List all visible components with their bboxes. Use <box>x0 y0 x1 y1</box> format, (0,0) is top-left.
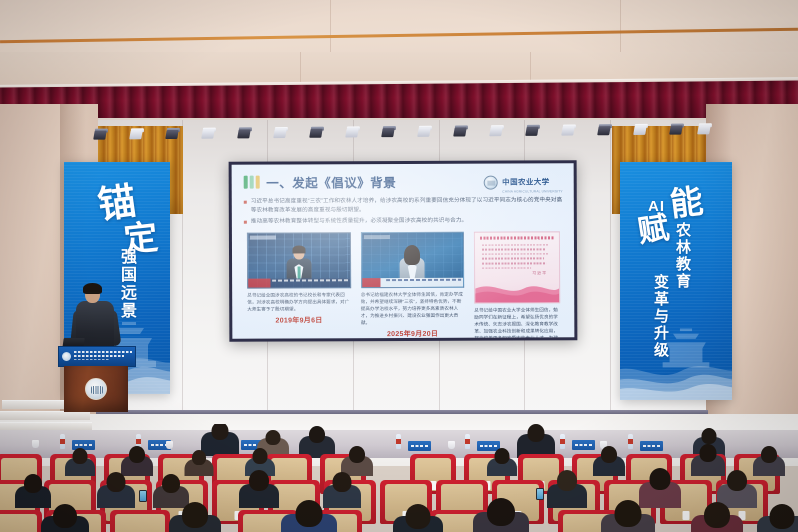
card-caption: 总书记给全国涉农高校的书记校长和专家代表回信，对涉农高校明确办学方向提出具体要求… <box>247 291 351 313</box>
university-seal-icon <box>85 378 107 400</box>
card-caption: 总书记给中国农业大学全体师生回信，勉励同学们在新征程上，希望弘扬优良的学术传统、… <box>474 306 560 339</box>
audience-person <box>592 446 626 476</box>
auditorium-scene: 锚 定 强国远景 AI 能 赋 农林教育 变革与升级 <box>0 0 798 532</box>
spotlight-icon <box>382 126 397 139</box>
audience-person <box>472 498 530 532</box>
audience-person <box>280 500 338 532</box>
spotlight-icon <box>310 127 325 140</box>
water-bottle <box>628 434 633 449</box>
title-accent-bars-icon <box>244 176 260 189</box>
banner-right-vertical-text-2: 变革与升级 <box>650 274 671 359</box>
podium-area <box>58 278 136 412</box>
audience-person <box>40 504 90 532</box>
document-signature: 习近平 <box>532 270 547 276</box>
news-anchor-figure-icon <box>399 246 425 280</box>
university-logo: 中国农业大学 CHINA AGRICULTURAL UNIVERSITY <box>484 171 563 193</box>
audience-person <box>486 448 518 476</box>
spotlight-icon <box>526 125 541 138</box>
audience-person <box>690 502 744 532</box>
spotlight-icon <box>454 125 469 138</box>
document-header-line <box>480 236 554 239</box>
spotlight-icon <box>634 124 649 137</box>
letter-document-thumbnail: 习近平 <box>474 231 560 303</box>
spotlight-icon <box>346 126 361 139</box>
news-ticker-bar <box>248 278 350 287</box>
water-bottle <box>465 434 470 449</box>
document-wave-graphic <box>475 280 559 302</box>
spotlight-icon <box>130 128 145 141</box>
paper-cup <box>166 441 173 449</box>
slide-card-row: 总书记给全国涉农高校的书记校长和专家代表回信，对涉农高校明确办学方向提出具体要求… <box>244 231 564 339</box>
water-bottle <box>60 434 65 449</box>
paper-cup <box>32 440 39 448</box>
slide-card: 总书记给福建农林大学全体师生回信，肯定办学成效，并希望继续深耕“三农”，坚持特色… <box>360 231 464 338</box>
card-caption: 总书记给福建农林大学全体师生回信，肯定办学成效，并希望继续深耕“三农”，坚持特色… <box>361 290 465 326</box>
audience-person <box>756 504 798 532</box>
news-ticker-bar <box>362 277 464 286</box>
audience-person <box>238 470 280 508</box>
spotlight-icon <box>598 124 613 137</box>
news-broadcast-thumbnail <box>247 232 351 288</box>
slide-card: 习近平 总书记给中国农业大学全体师生回信，勉励同学们在新征程上，希望弘扬优良的学… <box>474 231 561 339</box>
slide-card: 总书记给全国涉农高校的书记校长和专家代表回信，对涉农高校明确办学方向提出具体要求… <box>247 232 351 339</box>
audience-person <box>546 470 588 508</box>
spotlight-icon <box>418 126 433 139</box>
spotlight-icon <box>274 127 289 140</box>
document-body-lines <box>482 244 552 272</box>
spotlight-icon <box>698 123 713 136</box>
slide-bullet-list: 习近平总书记高度重视“三农”工作和农林人才培养，给涉农高校的系列重要回信充分体现… <box>244 196 563 227</box>
university-name: 中国农业大学 <box>502 177 549 186</box>
card-date: 2019年9月6日 <box>247 315 351 325</box>
audience-person <box>14 474 52 508</box>
smartphone <box>536 488 544 500</box>
spotlight-icon <box>562 124 577 137</box>
banner-right: AI 能 赋 农林教育 变革与升级 <box>620 162 732 400</box>
banner-right-calligraphy-1: 能 <box>668 186 704 220</box>
slide-bullet: 推动高等农林教育整体转型与系统性质量提升，必须凝聚全国涉农高校的共识与合力。 <box>244 217 563 228</box>
auditorium-seat <box>0 510 42 532</box>
smartphone <box>139 490 147 502</box>
water-bottle <box>560 434 565 449</box>
spotlight-icon <box>670 124 685 137</box>
banner-right-vertical-text-1: 农林教育 <box>672 222 693 290</box>
auditorium-seat <box>110 510 170 532</box>
news-anchor-figure-icon <box>286 246 312 280</box>
glasses-icon <box>86 292 99 295</box>
audience-person <box>600 500 656 532</box>
slide-title: 一、发起《倡议》背景 <box>266 172 396 192</box>
podium-sign-badge-icon <box>62 352 71 361</box>
audience-person <box>64 448 96 476</box>
slide-bullet-text: 推动高等农林教育整体转型与系统性质量提升，必须凝聚全国涉农高校的共识与合力。 <box>251 217 467 227</box>
spotlight-icon <box>238 127 253 140</box>
audience-person <box>96 472 136 508</box>
audience-person <box>392 504 444 532</box>
bullet-marker-icon <box>244 201 247 204</box>
podium <box>64 366 128 412</box>
banner-right-calligraphy-2: 赋 <box>636 214 671 247</box>
spotlight-icon <box>166 128 181 141</box>
paper-cup <box>448 441 455 449</box>
slide-bullet: 习近平总书记高度重视“三农”工作和农林人才培养，给涉农高校的系列重要回信充分体现… <box>244 196 563 216</box>
news-broadcast-thumbnail <box>360 231 464 287</box>
university-shield-icon <box>484 176 498 190</box>
name-card <box>408 441 431 451</box>
banner-left-calligraphy-1: 锚 <box>96 184 139 224</box>
water-bottle <box>396 434 401 449</box>
presentation-slide: 一、发起《倡议》背景 中国农业大学 CHINA AGRICULTURAL UNI… <box>232 163 575 338</box>
podium-sign <box>58 346 136 367</box>
ceiling-stripe <box>0 28 798 44</box>
audience-person <box>168 502 222 532</box>
spotlight-icon <box>490 125 505 138</box>
spotlight-icon <box>202 128 217 141</box>
ceiling <box>0 0 798 90</box>
podium-sign-text <box>74 351 132 362</box>
audience-area <box>0 424 798 532</box>
card-date: 2025年9月20日 <box>361 329 465 339</box>
slide-bullet-text: 习近平总书记高度重视“三农”工作和农林人才培养，给涉农高校的系列重要回信充分体现… <box>251 196 563 216</box>
spotlight-icon <box>94 129 109 142</box>
audience-person <box>516 424 556 458</box>
bullet-marker-icon <box>244 221 247 224</box>
projection-screen[interactable]: 一、发起《倡议》背景 中国农业大学 CHINA AGRICULTURAL UNI… <box>229 160 578 342</box>
audience-person <box>184 450 214 476</box>
university-name-en: CHINA AGRICULTURAL UNIVERSITY <box>502 189 563 193</box>
name-card <box>640 441 663 451</box>
